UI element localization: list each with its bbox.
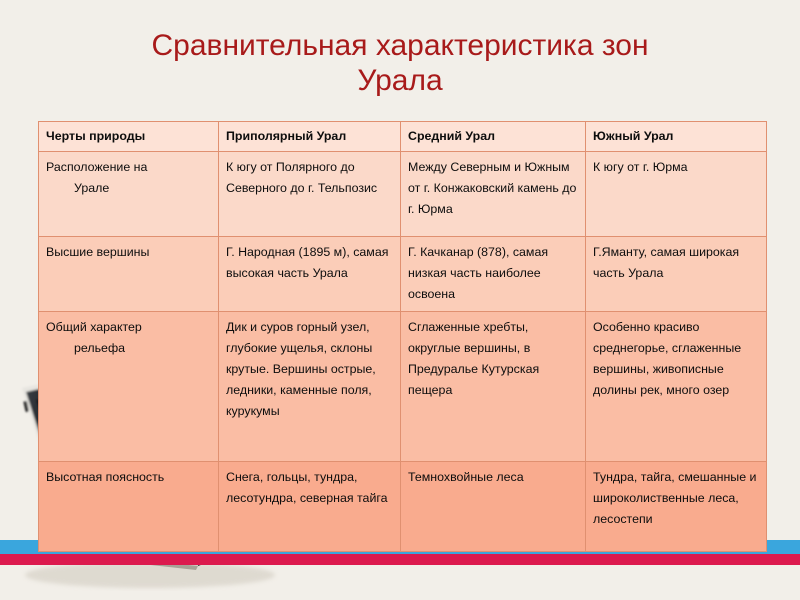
row-label-line-1: Высотная поясность xyxy=(46,467,211,488)
cell-location-subpolar: К югу от Полярного до Северного до г. Те… xyxy=(219,152,401,237)
comparison-table-container: Черты природы Приполярный Урал Средний У… xyxy=(38,121,766,552)
cell-zonation-middle: Темнохвойные леса xyxy=(401,462,586,552)
table-header-row: Черты природы Приполярный Урал Средний У… xyxy=(39,122,767,152)
cell-zonation-subpolar: Снега, гольцы, тундра, лесотундра, север… xyxy=(219,462,401,552)
cell-location-southern: К югу от г. Юрма xyxy=(586,152,767,237)
row-label-line-1: Общий характер xyxy=(46,317,211,338)
cell-peaks-middle: Г. Качканар (878), самая низкая часть на… xyxy=(401,237,586,312)
row-label-highest-peaks: Высшие вершины xyxy=(39,237,219,312)
cell-relief-subpolar: Дик и суров горный узел, глубокие ущелья… xyxy=(219,312,401,462)
row-label-line-1: Расположение на xyxy=(46,157,211,178)
row-label-relief-character: Общий характер рельефа xyxy=(39,312,219,462)
shadow-ellipse xyxy=(25,562,275,588)
column-header-southern-urals: Южный Урал xyxy=(586,122,767,152)
comparison-table: Черты природы Приполярный Урал Средний У… xyxy=(38,121,767,552)
row-label-line-2: рельефа xyxy=(46,338,211,359)
cell-peaks-subpolar: Г. Народная (1895 м), самая высокая част… xyxy=(219,237,401,312)
slide: Сравнительная характеристика зон Урала Ч… xyxy=(0,0,800,600)
table-row: Расположение на Урале К югу от Полярного… xyxy=(39,152,767,237)
column-header-features: Черты природы xyxy=(39,122,219,152)
row-label-line-1: Высшие вершины xyxy=(46,242,211,263)
row-label-line-2: Урале xyxy=(46,178,211,199)
row-label-location: Расположение на Урале xyxy=(39,152,219,237)
cell-zonation-southern: Тундра, тайга, смешанные и широколиствен… xyxy=(586,462,767,552)
table-row: Высшие вершины Г. Народная (1895 м), сам… xyxy=(39,237,767,312)
column-header-middle-urals: Средний Урал xyxy=(401,122,586,152)
row-label-altitudinal-zonation: Высотная поясность xyxy=(39,462,219,552)
table-row: Высотная поясность Снега, гольцы, тундра… xyxy=(39,462,767,552)
page-title: Сравнительная характеристика зон Урала xyxy=(40,28,760,98)
cell-relief-southern: Особенно красиво среднегорье, сглаженные… xyxy=(586,312,767,462)
table-row: Общий характер рельефа Дик и суров горны… xyxy=(39,312,767,462)
cell-location-middle: Между Северным и Южным от г. Конжаковски… xyxy=(401,152,586,237)
cell-peaks-southern: Г.Яманту, самая широкая часть Урала xyxy=(586,237,767,312)
stripe-pink xyxy=(0,554,800,565)
column-header-subpolar-urals: Приполярный Урал xyxy=(219,122,401,152)
cell-relief-middle: Сглаженные хребты, округлые вершины, в П… xyxy=(401,312,586,462)
